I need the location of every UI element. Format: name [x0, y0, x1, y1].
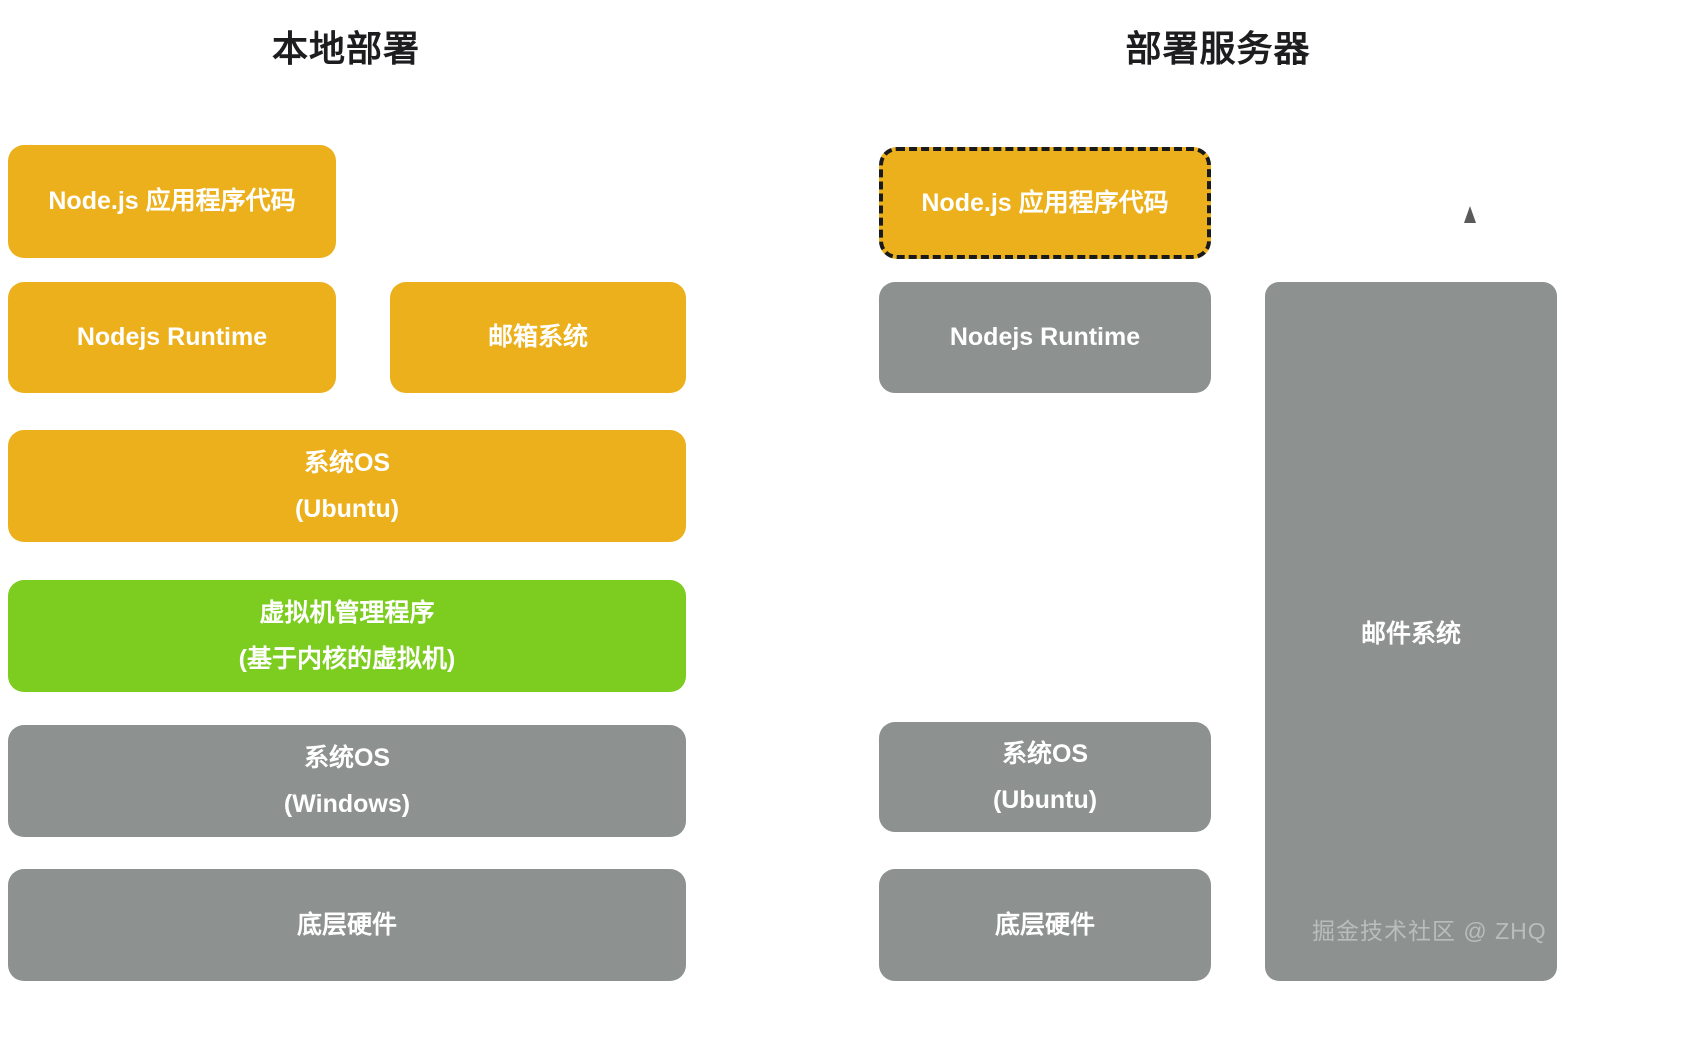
box-label: 系统OS [304, 450, 390, 476]
box-label: Nodejs Runtime [950, 324, 1140, 350]
box-label: 底层硬件 [995, 912, 1095, 938]
right-box-nodejs-runtime[interactable]: Nodejs Runtime [879, 282, 1211, 393]
left-box-hypervisor[interactable]: 虚拟机管理程序 (基于内核的虚拟机) [8, 580, 686, 692]
left-box-nodejs-runtime[interactable]: Nodejs Runtime [8, 282, 336, 393]
box-sublabel: (Windows) [284, 791, 410, 817]
diagram-canvas: 本地部署 部署服务器 Node.js 应用程序代码 Nodejs Runtime… [0, 0, 1689, 1060]
box-label: Node.js 应用程序代码 [48, 188, 295, 214]
box-label: 系统OS [1002, 741, 1088, 767]
box-sublabel: (Ubuntu) [993, 787, 1097, 813]
box-label: 邮件系统 [1361, 614, 1461, 650]
column-title-local-deployment: 本地部署 [8, 20, 684, 72]
watermark-text: 掘金技术社区 @ ZHQ [1312, 912, 1547, 946]
column-title-deployment-server: 部署服务器 [879, 20, 1557, 72]
box-label: 邮箱系统 [488, 324, 588, 350]
box-sublabel: (基于内核的虚拟机) [239, 646, 456, 672]
cursor-pointer-icon [1464, 206, 1476, 223]
box-label: 底层硬件 [297, 912, 397, 938]
left-box-underlying-hardware[interactable]: 底层硬件 [8, 869, 686, 981]
box-label: 系统OS [304, 745, 390, 771]
box-label: Node.js 应用程序代码 [921, 190, 1168, 216]
right-box-nodejs-app-code[interactable]: Node.js 应用程序代码 [879, 147, 1211, 259]
box-label: 虚拟机管理程序 [259, 600, 434, 626]
left-box-nodejs-app-code[interactable]: Node.js 应用程序代码 [8, 145, 336, 258]
right-box-mail-system[interactable]: 邮件系统 [1265, 282, 1557, 981]
left-box-system-os-windows[interactable]: 系统OS (Windows) [8, 725, 686, 837]
box-sublabel: (Ubuntu) [295, 496, 399, 522]
left-box-mailbox-system[interactable]: 邮箱系统 [390, 282, 686, 393]
left-box-system-os-ubuntu[interactable]: 系统OS (Ubuntu) [8, 430, 686, 542]
right-box-system-os-ubuntu[interactable]: 系统OS (Ubuntu) [879, 722, 1211, 832]
box-label: Nodejs Runtime [77, 324, 267, 350]
right-box-underlying-hardware[interactable]: 底层硬件 [879, 869, 1211, 981]
